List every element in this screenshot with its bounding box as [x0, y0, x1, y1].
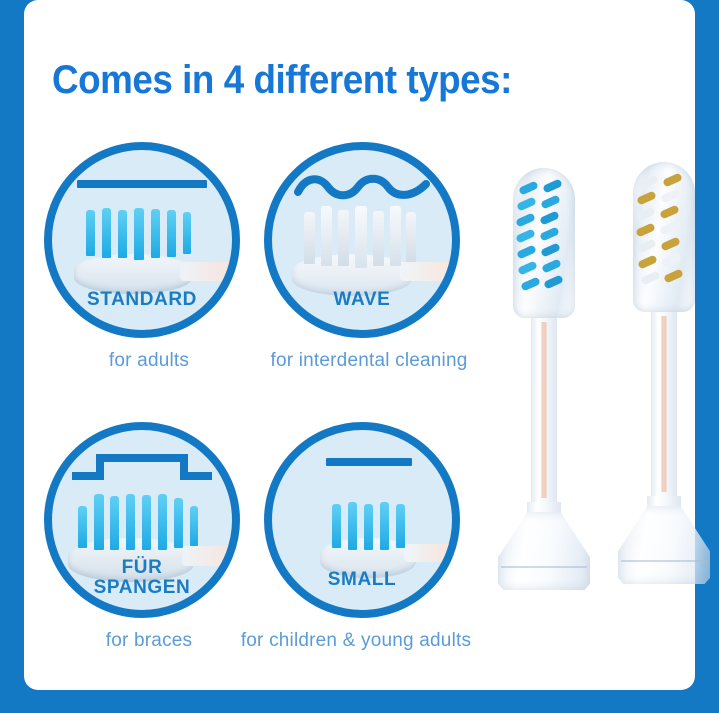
bristle — [304, 212, 315, 264]
brush-head-blue — [513, 168, 575, 318]
head-handle — [404, 544, 452, 562]
bristle — [174, 498, 183, 548]
head-handle — [400, 262, 452, 281]
bristle-tuft — [659, 220, 680, 235]
bristle-tuft — [660, 236, 681, 251]
bristle-tuft — [539, 226, 560, 241]
bristle — [134, 208, 144, 260]
bristle-tuft — [636, 238, 657, 253]
bristle-tuft — [516, 244, 537, 259]
bristle-tuft — [663, 268, 684, 283]
badge-standard: STANDARD for adults — [44, 142, 254, 372]
badge-label-small: SMALL — [272, 570, 452, 590]
bristle — [348, 502, 357, 550]
badge-circle-wave: WAVE — [264, 142, 460, 338]
bristle — [94, 494, 104, 550]
brush-inner-stripe — [542, 322, 547, 498]
badge-small: SMALL for children & young adults — [264, 422, 474, 652]
badge-label-line1: FÜR — [52, 558, 232, 578]
bristle-tuft — [635, 222, 656, 237]
badge-label-standard: STANDARD — [52, 290, 232, 310]
badge-label-fur-spangen: FÜR SPANGEN — [52, 558, 232, 598]
bristle-tuft — [659, 204, 680, 219]
bristle-tuft — [660, 188, 681, 203]
bristle — [102, 208, 111, 258]
bristle — [380, 502, 389, 550]
badge-label-wave: WAVE — [272, 290, 452, 310]
bristle — [190, 506, 198, 546]
bristle — [183, 212, 191, 254]
bristle-tuft — [516, 196, 537, 211]
bristle — [118, 210, 127, 258]
bristle-tuft — [540, 194, 561, 209]
brush-inner-stripe — [662, 316, 667, 492]
bristle — [78, 506, 87, 548]
bristle — [151, 209, 160, 258]
bristle — [355, 206, 367, 268]
bristle-tuft — [515, 212, 536, 227]
bristle-tuft — [543, 274, 564, 289]
badge-fur-spangen: FÜR SPANGEN for braces — [44, 422, 254, 652]
brush-base-ring — [501, 566, 587, 568]
bristle — [126, 494, 135, 550]
badge-caption-wave: for interdental cleaning — [264, 350, 474, 372]
product-photo-gold — [604, 162, 719, 592]
bristle-tuft — [637, 254, 658, 269]
bristle-tuft — [640, 270, 661, 285]
badge-wave: WAVE for interdental cleaning — [264, 142, 474, 372]
bristle — [158, 494, 167, 550]
stepped-bar-icon — [70, 452, 214, 487]
bristle — [86, 210, 95, 256]
bristle-tuft — [636, 190, 657, 205]
badge-circle-fur-spangen: FÜR SPANGEN — [44, 422, 240, 618]
head-plate — [74, 254, 192, 294]
bristle-tuft — [661, 252, 682, 267]
bristle — [338, 210, 349, 266]
brush-base — [498, 512, 590, 590]
badge-label-line2: SPANGEN — [52, 578, 232, 598]
bristle-tuft — [540, 242, 561, 257]
brush-base — [618, 506, 710, 584]
wavy-line-icon — [294, 174, 430, 205]
bristle-tuft — [518, 180, 539, 195]
product-photo-blue — [484, 168, 604, 598]
bristle — [406, 212, 416, 262]
product-infographic: Comes in 4 different types: ST — [0, 0, 719, 713]
bristle-tuft — [515, 228, 536, 243]
badge-caption-standard: for adults — [44, 350, 254, 372]
page-title: Comes in 4 different types: — [52, 58, 604, 103]
bristle — [396, 504, 405, 548]
bristle — [373, 211, 384, 266]
short-straight-bar-icon — [326, 456, 412, 475]
head-handle — [180, 262, 232, 281]
bristle — [110, 496, 119, 550]
bristle-tuft — [539, 210, 560, 225]
bristle-tuft — [542, 178, 563, 193]
bristle — [332, 504, 341, 548]
bristle — [390, 206, 401, 266]
badge-caption-fur-spangen: for braces — [44, 630, 254, 652]
bristle — [167, 210, 176, 257]
bristle-tuft — [662, 172, 683, 187]
bristle-tuft — [520, 276, 541, 291]
bristle — [364, 504, 373, 550]
brush-base-ring — [621, 560, 707, 562]
straight-bar-icon — [77, 178, 207, 197]
bristle-tuft — [635, 206, 656, 221]
badge-circle-small: SMALL — [264, 422, 460, 618]
badge-circle-standard: STANDARD — [44, 142, 240, 338]
bristle — [142, 495, 151, 550]
bristle — [321, 206, 332, 266]
bristle-tuft — [638, 174, 659, 189]
badge-caption-small: for children & young adults — [238, 630, 474, 652]
bristle-tuft — [541, 258, 562, 273]
bristle-tuft — [517, 260, 538, 275]
brush-head-gold — [633, 162, 695, 312]
